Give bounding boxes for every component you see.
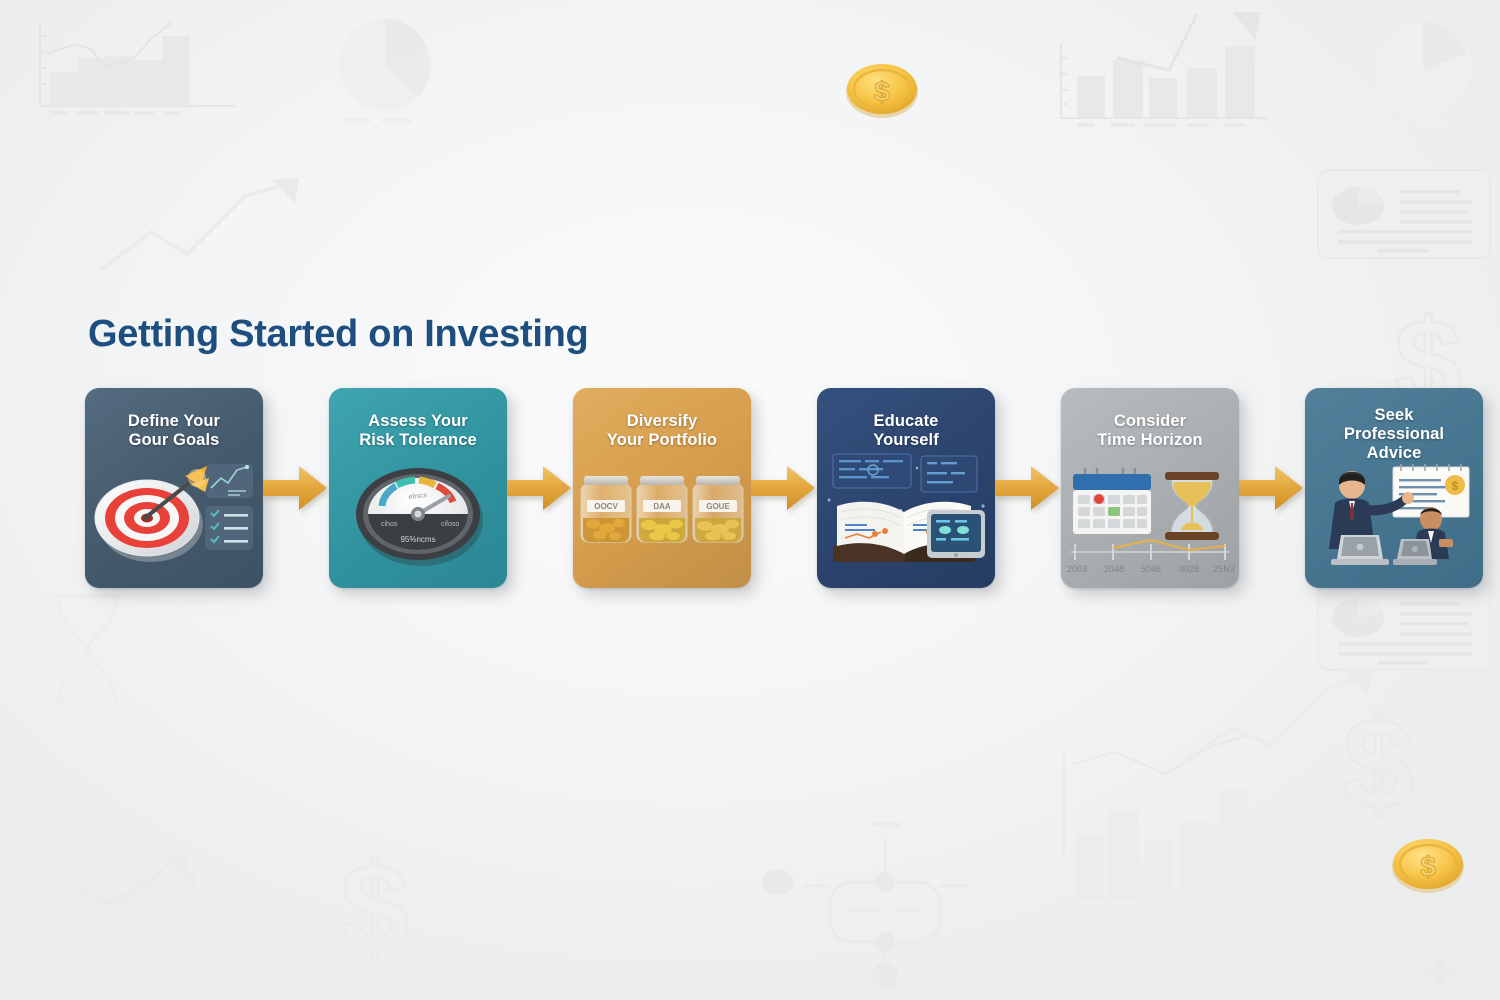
node-diagram-watermark-bottom-center bbox=[700, 820, 980, 1000]
step-title-line1: Consider bbox=[1073, 412, 1227, 431]
svg-text:OOCV: OOCV bbox=[594, 502, 618, 511]
infographic-canvas: $ bbox=[0, 0, 1500, 1000]
step-title-line1: Diversify bbox=[585, 412, 739, 431]
svg-text:2048: 2048 bbox=[1104, 564, 1124, 574]
step-card-assess-your-risk-tolerance[interactable]: Assess Your Risk Tolerance bbox=[329, 388, 507, 588]
step-title-line1: Seek bbox=[1317, 406, 1471, 425]
three-coin-jars-icon: OOCV DAA bbox=[573, 450, 751, 587]
bar-chart-watermark-bottom-right bbox=[1040, 730, 1270, 920]
flow-arrow-1 bbox=[263, 461, 329, 515]
step-title-line2: Risk Tolerance bbox=[341, 431, 495, 450]
report-card-watermark-bottom-right bbox=[1316, 580, 1500, 676]
step-card-define-your-goals[interactable]: Define Your Gour Goals bbox=[85, 388, 263, 588]
bar-chart-watermark-top-left bbox=[20, 10, 250, 125]
svg-text:$: $ bbox=[1452, 479, 1459, 493]
step-title-line2: Gour Goals bbox=[97, 431, 251, 450]
gold-dollar-coin-bottom: $ bbox=[1388, 832, 1468, 901]
svg-text:95%ncms: 95%ncms bbox=[400, 535, 435, 544]
step-title-line3: Advice bbox=[1317, 444, 1471, 463]
svg-text:$: $ bbox=[1420, 851, 1436, 882]
process-flow: Define Your Gour Goals bbox=[85, 385, 1443, 590]
svg-text:3028: 3028 bbox=[1179, 564, 1199, 574]
svg-text:cifoso: cifoso bbox=[441, 521, 459, 528]
growth-arrow-watermark-left bbox=[95, 170, 315, 280]
step-title-line2: Yourself bbox=[829, 431, 983, 450]
dollar-sign-watermark-bottom-right: $ bbox=[1330, 700, 1426, 836]
step-title: Define Your Gour Goals bbox=[97, 412, 251, 451]
flow-arrow-2 bbox=[507, 461, 573, 515]
svg-text:$: $ bbox=[341, 845, 409, 975]
svg-text:5048: 5048 bbox=[1141, 564, 1161, 574]
pie-chart-watermark-top-left bbox=[315, 10, 465, 130]
flow-arrow-3 bbox=[751, 461, 817, 515]
bar-chart-watermark-top-right bbox=[1035, 10, 1295, 140]
pie-chart-watermark-top-right bbox=[1345, 12, 1495, 132]
step-card-consider-time-horizon[interactable]: Consider Time Horizon bbox=[1061, 388, 1239, 588]
step-title-line2: Professional bbox=[1317, 425, 1471, 444]
sparkle-watermark-bottom-right bbox=[1418, 950, 1462, 994]
risk-gauge-meter-icon: cihos cifoso ebscs 95%ncms bbox=[329, 450, 507, 587]
step-title: Consider Time Horizon bbox=[1073, 412, 1227, 451]
svg-text:GOUE: GOUE bbox=[706, 502, 730, 511]
step-title-line2: Time Horizon bbox=[1073, 431, 1227, 450]
step-card-seek-professional-advice[interactable]: Seek Professional Advice bbox=[1305, 388, 1483, 588]
growth-arrow-watermark-bottom-right bbox=[1180, 660, 1380, 770]
step-title: Assess Your Risk Tolerance bbox=[341, 412, 495, 451]
open-book-and-tablet-icon bbox=[817, 450, 995, 587]
step-title: Diversify Your Portfolio bbox=[585, 412, 739, 451]
page-title: Getting Started on Investing bbox=[88, 313, 588, 356]
step-title-line2: Your Portfolio bbox=[585, 431, 739, 450]
bar-chart-watermark-bottom-left bbox=[18, 852, 258, 982]
advisors-presentation-icon: $ bbox=[1305, 463, 1483, 587]
step-title: Seek Professional Advice bbox=[1317, 406, 1471, 464]
svg-text:25N3: 25N3 bbox=[1213, 564, 1235, 574]
calendar-hourglass-timeline-icon: 2003 2048 5048 3028 25N3 bbox=[1061, 450, 1239, 587]
step-title-line1: Assess Your bbox=[341, 412, 495, 431]
target-dartboard-arrow-icon bbox=[85, 450, 263, 587]
flow-arrow-5 bbox=[1239, 461, 1305, 515]
step-title-line1: Define Your bbox=[97, 412, 251, 431]
svg-text:$: $ bbox=[1342, 700, 1413, 836]
svg-text:DAA: DAA bbox=[653, 502, 671, 511]
step-card-educate-yourself[interactable]: Educate Yourself bbox=[817, 388, 995, 588]
report-card-watermark-top-right bbox=[1316, 168, 1500, 264]
step-card-diversify-your-portfolio[interactable]: Diversify Your Portfolio bbox=[573, 388, 751, 588]
gold-dollar-coin-top: $ bbox=[842, 58, 922, 127]
svg-text:2003: 2003 bbox=[1067, 564, 1087, 574]
svg-text:cihos: cihos bbox=[381, 521, 398, 528]
svg-text:$: $ bbox=[874, 76, 890, 107]
dollar-sign-watermark-bottom-left: $ bbox=[330, 845, 420, 975]
step-title-line1: Educate bbox=[829, 412, 983, 431]
flow-arrow-4 bbox=[995, 461, 1061, 515]
step-title: Educate Yourself bbox=[829, 412, 983, 451]
hourglass-watermark-left bbox=[22, 580, 152, 720]
